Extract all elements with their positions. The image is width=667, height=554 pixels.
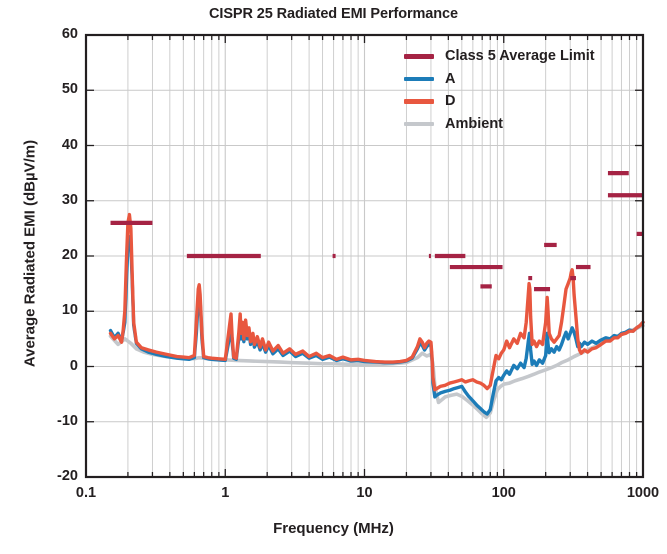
y-tick-label: 50 [18,81,78,97]
x-axis-label: Frequency (MHz) [0,520,667,537]
x-tick-label: 10 [325,485,405,501]
y-tick-label: 10 [18,302,78,318]
legend-label-d: D [445,94,455,109]
x-tick-label: 1 [185,485,265,501]
legend-item-d[interactable]: D [404,90,595,113]
x-tick-label: 1000 [603,485,667,501]
legend-label-a: A [445,72,455,87]
legend-item-limit[interactable]: Class 5 Average Limit [404,45,595,68]
chart-figure: CISPR 25 Radiated EMI Performance Averag… [0,0,667,554]
x-tick-label: 0.1 [46,485,126,501]
chart-legend: Class 5 Average Limit A D Ambient [404,45,595,135]
legend-swatch-ambient [404,122,434,127]
legend-swatch-a [404,77,434,82]
legend-swatch-limit [404,54,434,59]
x-tick-label: 100 [464,485,544,501]
y-tick-label: 40 [18,137,78,153]
y-tick-label: -10 [18,413,78,429]
y-tick-label: 0 [18,358,78,374]
data-layer [111,173,643,417]
y-tick-label: 30 [18,192,78,208]
legend-label-limit: Class 5 Average Limit [445,49,595,64]
series-line-a [111,237,643,414]
legend-label-ambient: Ambient [445,117,503,132]
y-tick-label: 60 [18,26,78,42]
y-tick-label: 20 [18,247,78,263]
y-tick-label: -20 [18,468,78,484]
legend-item-ambient[interactable]: Ambient [404,113,595,136]
legend-item-a[interactable]: A [404,68,595,91]
legend-swatch-d [404,99,434,104]
